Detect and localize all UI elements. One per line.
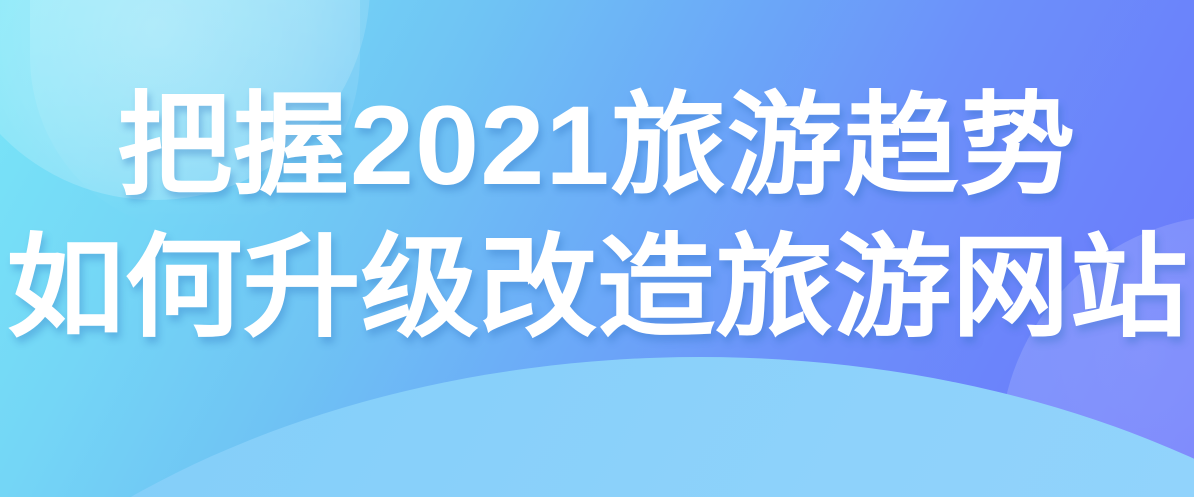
top-left-arc-decoration xyxy=(30,0,360,230)
headline-line-2: 如何升级改造旅游网站 xyxy=(6,224,1188,352)
bottom-wave-decoration xyxy=(0,357,1194,497)
right-glow-decoration xyxy=(1000,215,1194,497)
headline-line-1: 把握2021旅游趋势 xyxy=(117,82,1076,210)
promo-banner: 把握2021旅游趋势 如何升级改造旅游网站 xyxy=(0,0,1194,497)
top-left-glow-decoration xyxy=(0,0,370,200)
headline-block: 把握2021旅游趋势 如何升级改造旅游网站 xyxy=(0,0,1194,497)
